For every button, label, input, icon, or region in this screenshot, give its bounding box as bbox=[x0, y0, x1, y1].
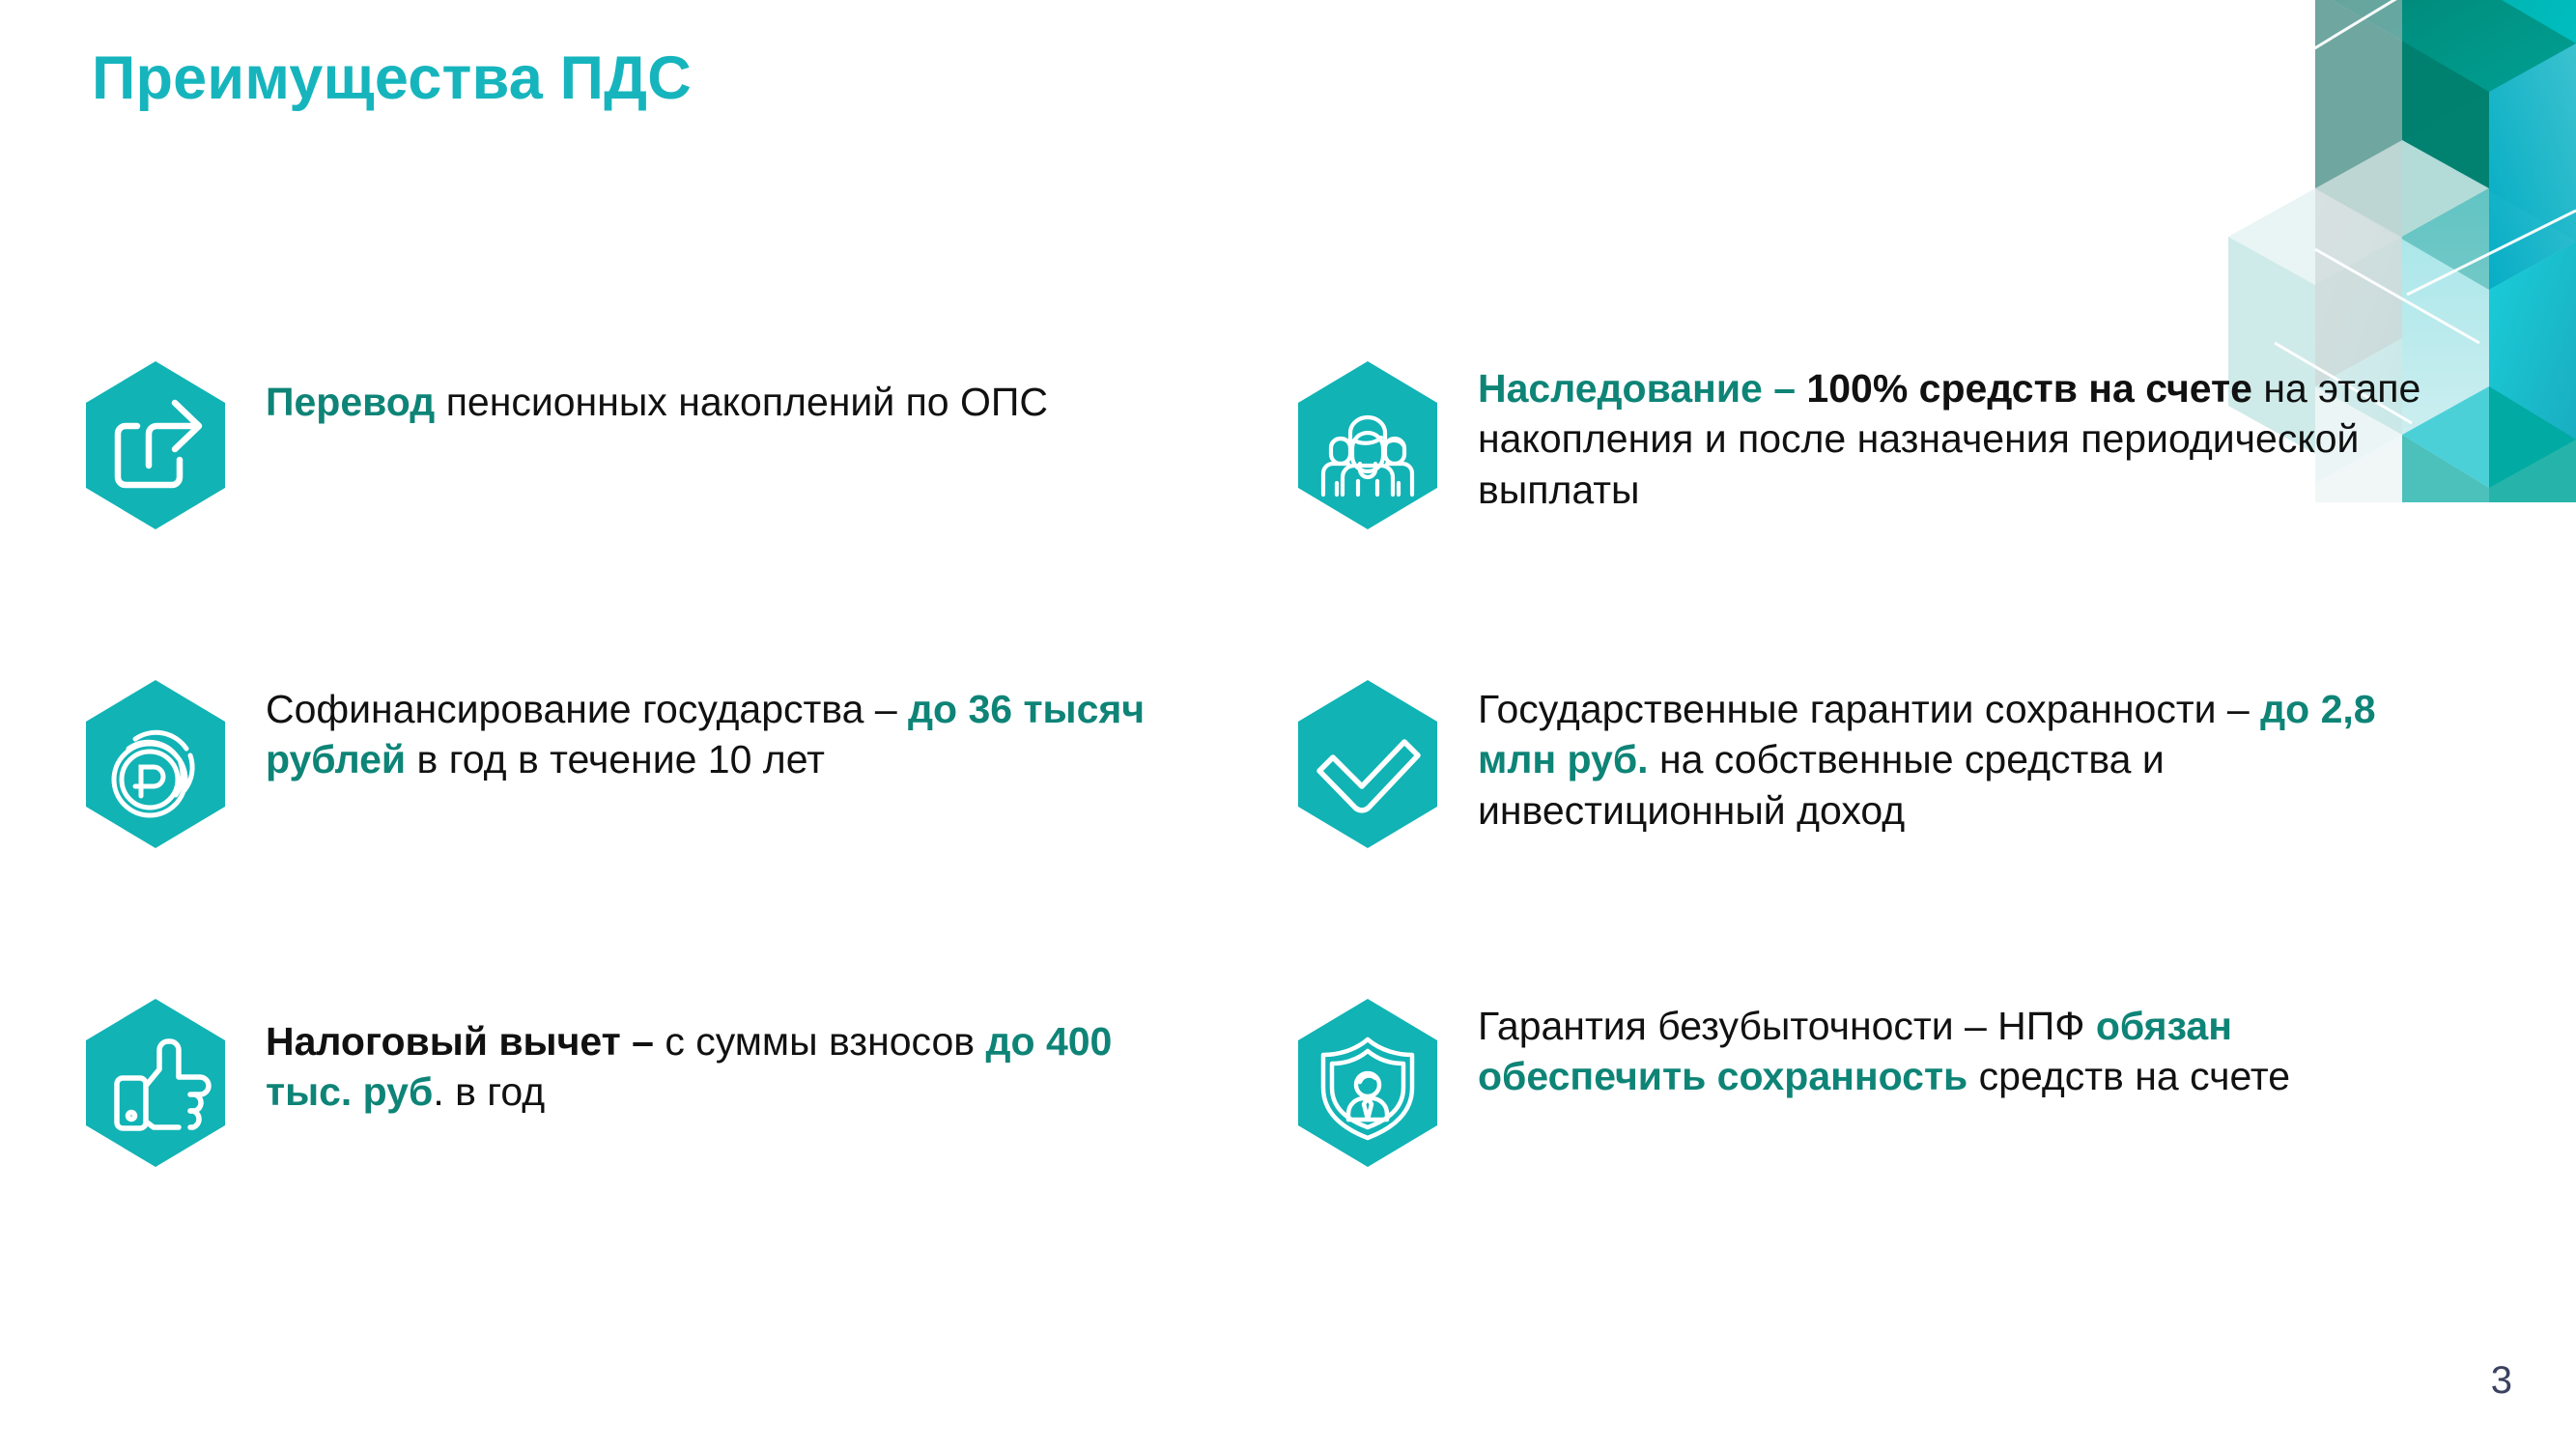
feature-item-breakeven-guarantee: Гарантия безубыточности – НПФ обязан обе… bbox=[1294, 997, 2434, 1176]
segment-0: Государственные гарантии сохранности – bbox=[1478, 687, 2260, 731]
page-title: Преимущества ПДС bbox=[92, 43, 692, 113]
segment-0: Гарантия безубыточности – НПФ bbox=[1478, 1004, 2096, 1048]
family-group-icon bbox=[1294, 359, 1441, 531]
feature-text: Софинансирование государства – до 36 тыс… bbox=[266, 678, 1193, 785]
feature-text: Налоговый вычет – с суммы взносов до 400… bbox=[266, 997, 1193, 1118]
segment-1: пенсионных накоплений по ОПС bbox=[435, 380, 1048, 424]
feature-item-cofinancing: Софинансирование государства – до 36 тыс… bbox=[82, 678, 1222, 857]
segment-1: с суммы взносов bbox=[654, 1019, 986, 1064]
right-feature-column: Наследование – 100% средств на счете на … bbox=[1294, 359, 2434, 1316]
feature-item-inheritance: Наследование – 100% средств на счете на … bbox=[1294, 359, 2434, 538]
feature-text: Гарантия безубыточности – НПФ обязан обе… bbox=[1478, 997, 2434, 1102]
segment-0: Перевод bbox=[266, 380, 435, 424]
feature-item-state-guarantees: Государственные гарантии сохранности – д… bbox=[1294, 678, 2434, 857]
segment-2: средств на счете bbox=[1967, 1054, 2290, 1098]
segment-0: Налоговый вычет – bbox=[266, 1019, 654, 1064]
segment-1: 100% средств на счете bbox=[1806, 366, 2252, 411]
segment-0: Софинансирование государства – bbox=[266, 687, 908, 731]
thumbs-up-icon bbox=[82, 997, 229, 1169]
page-number: 3 bbox=[2491, 1359, 2512, 1403]
feature-text: Государственные гарантии сохранности – д… bbox=[1478, 678, 2434, 836]
feature-item-transfer: Перевод пенсионных накоплений по ОПС bbox=[82, 359, 1222, 538]
left-feature-column: Перевод пенсионных накоплений по ОПС Соф… bbox=[82, 359, 1222, 1316]
share-export-icon bbox=[82, 359, 229, 531]
feature-text: Перевод пенсионных накоплений по ОПС bbox=[266, 359, 1048, 427]
segment-2: в год в течение 10 лет bbox=[406, 737, 825, 781]
segment-3: . в год bbox=[433, 1069, 545, 1114]
feature-item-tax-deduction: Налоговый вычет – с суммы взносов до 400… bbox=[82, 997, 1222, 1176]
segment-0: Наследование – bbox=[1478, 366, 1806, 411]
ruble-coins-icon bbox=[82, 678, 229, 850]
shield-person-icon bbox=[1294, 997, 1441, 1169]
feature-text: Наследование – 100% средств на счете на … bbox=[1478, 359, 2434, 515]
checkmark-icon bbox=[1294, 678, 1441, 850]
